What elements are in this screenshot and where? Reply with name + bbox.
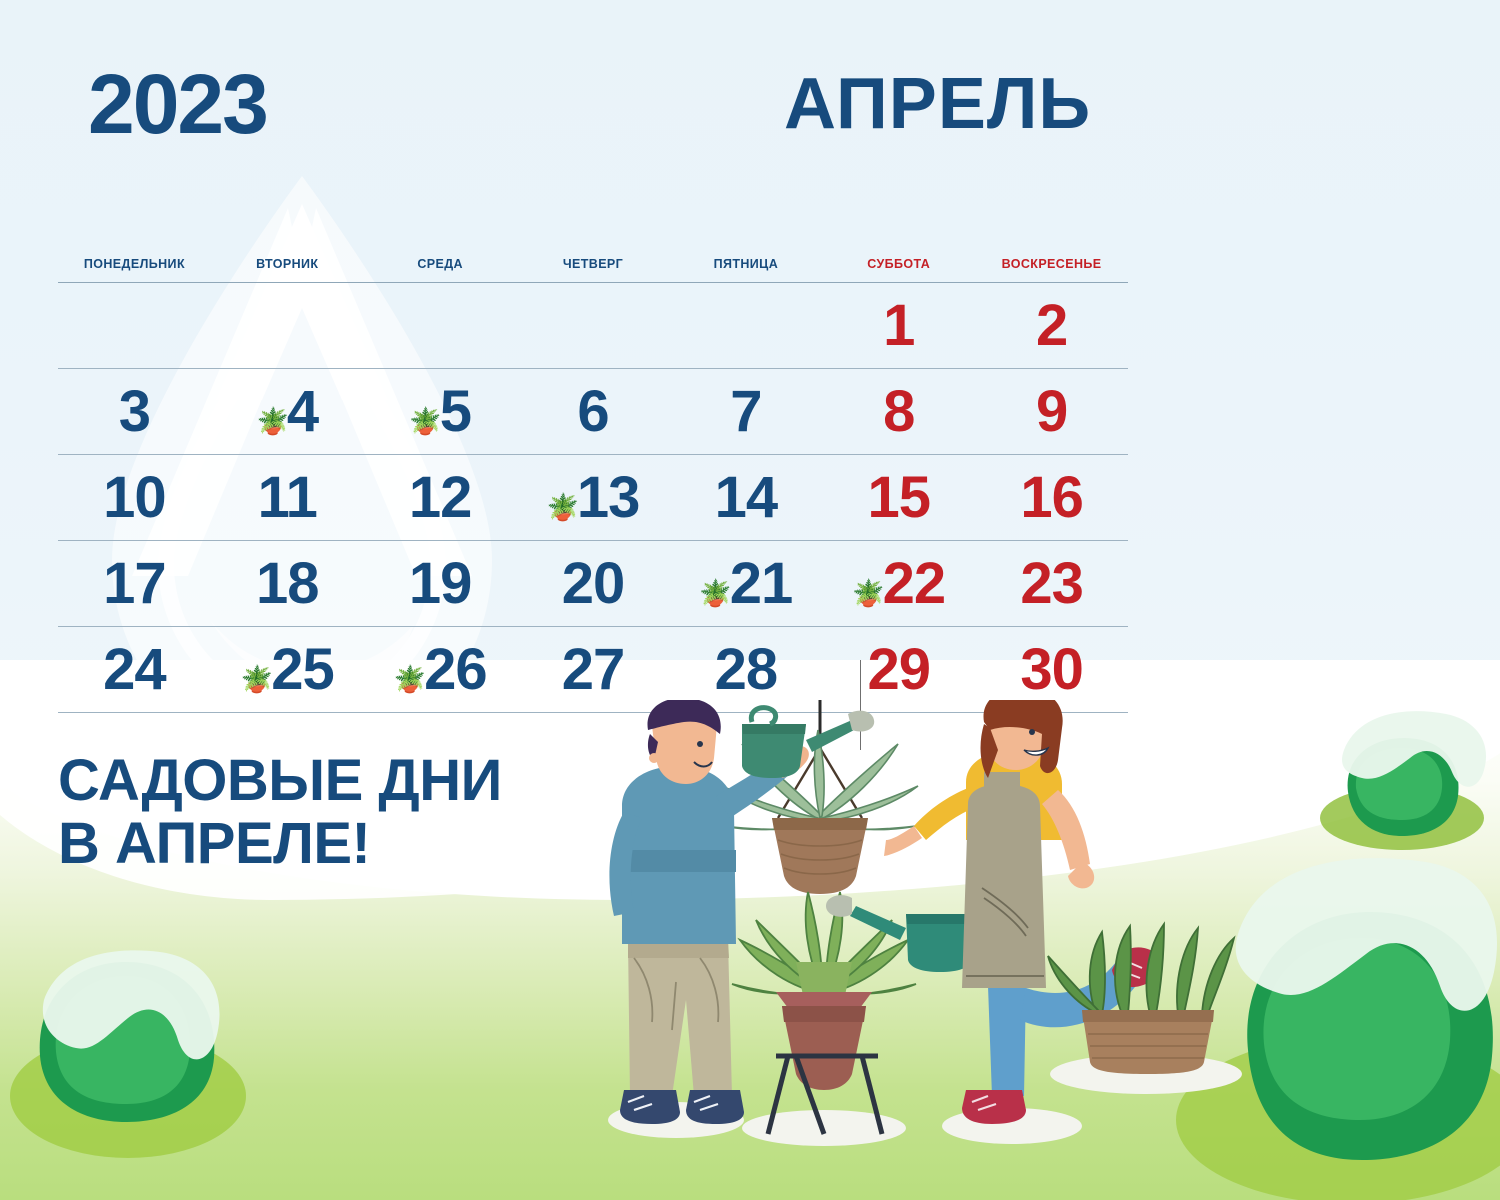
calendar-day-cell-16[interactable]: 16 xyxy=(975,455,1128,540)
day-of-week-3: ЧЕТВЕРГ xyxy=(517,257,670,271)
day-number: 16 xyxy=(1020,469,1083,527)
bush-bottom-left xyxy=(10,950,246,1158)
day-of-week-2: СРЕДА xyxy=(364,257,517,271)
potted-plant-icon: 🪴 xyxy=(699,580,731,606)
bush-right-small xyxy=(1320,711,1486,850)
day-number: 21 xyxy=(730,555,793,613)
day-number: 30 xyxy=(1020,641,1083,699)
day-number: 5 xyxy=(440,383,471,441)
calendar-day-cell-12[interactable]: 12 xyxy=(364,455,517,540)
calendar-day-cell-11[interactable]: 11 xyxy=(211,455,364,540)
potted-plant-icon: 🪴 xyxy=(256,408,288,434)
day-number: 14 xyxy=(715,469,778,527)
day-number: 13 xyxy=(577,469,640,527)
day-of-week-0: ПОНЕДЕЛЬНИК xyxy=(58,257,211,271)
calendar-day-cell-empty xyxy=(669,283,822,368)
day-number: 2 xyxy=(1036,297,1067,355)
day-number: 10 xyxy=(103,469,166,527)
calendar-day-cell-20[interactable]: 20 xyxy=(517,541,670,626)
day-number: 18 xyxy=(256,555,319,613)
day-number: 11 xyxy=(258,469,317,527)
calendar-day-cell-23[interactable]: 23 xyxy=(975,541,1128,626)
day-of-week-4: ПЯТНИЦА xyxy=(669,257,822,271)
calendar-day-cell-19[interactable]: 19 xyxy=(364,541,517,626)
day-number: 1 xyxy=(883,297,914,355)
month-label: АПРЕЛЬ xyxy=(784,68,1091,140)
calendar-day-cell-14[interactable]: 14 xyxy=(669,455,822,540)
calendar-day-cell-17[interactable]: 17 xyxy=(58,541,211,626)
day-of-week-6: ВОСКРЕСЕНЬЕ xyxy=(975,257,1128,271)
day-number: 17 xyxy=(103,555,166,613)
calendar-day-cell-15[interactable]: 15 xyxy=(822,455,975,540)
calendar-day-cell-22[interactable]: 🪴22 xyxy=(822,541,975,626)
day-number: 26 xyxy=(424,641,487,699)
calendar-day-cell-5[interactable]: 🪴5 xyxy=(364,369,517,454)
potted-plant-icon: 🪴 xyxy=(394,666,426,692)
calendar-day-cell-13[interactable]: 🪴13 xyxy=(517,455,670,540)
calendar-day-cell-4[interactable]: 🪴4 xyxy=(211,369,364,454)
day-number: 8 xyxy=(883,383,914,441)
day-number: 25 xyxy=(271,641,334,699)
gardening-illustration xyxy=(0,700,1500,1200)
calendar-day-cell-empty xyxy=(58,283,211,368)
calendar-week-row: 12 xyxy=(58,283,1128,368)
calendar-day-cell-21[interactable]: 🪴21 xyxy=(669,541,822,626)
day-number: 19 xyxy=(409,555,472,613)
calendar-grid: ПОНЕДЕЛЬНИКВТОРНИКСРЕДАЧЕТВЕРГПЯТНИЦАСУБ… xyxy=(58,246,1128,713)
day-number: 7 xyxy=(730,383,761,441)
calendar-day-cell-6[interactable]: 6 xyxy=(517,369,670,454)
potted-plant-icon: 🪴 xyxy=(409,408,441,434)
calendar-day-cell-10[interactable]: 10 xyxy=(58,455,211,540)
day-number: 23 xyxy=(1020,555,1083,613)
calendar-header: 2023 АПРЕЛЬ xyxy=(0,0,1500,200)
day-number: 15 xyxy=(867,469,930,527)
calendar-day-cell-9[interactable]: 9 xyxy=(975,369,1128,454)
day-number: 20 xyxy=(562,555,625,613)
calendar-week-row: 17181920🪴21🪴2223 xyxy=(58,541,1128,626)
calendar-day-cell-3[interactable]: 3 xyxy=(58,369,211,454)
bush-right-large xyxy=(1176,858,1500,1200)
potted-plant-icon: 🪴 xyxy=(852,580,884,606)
calendar-day-cell-empty xyxy=(364,283,517,368)
calendar-day-cell-empty xyxy=(517,283,670,368)
calendar-day-cell-8[interactable]: 8 xyxy=(822,369,975,454)
day-of-week-1: ВТОРНИК xyxy=(211,257,364,271)
day-number: 6 xyxy=(577,383,608,441)
day-of-week-5: СУББОТА xyxy=(822,257,975,271)
day-number: 27 xyxy=(562,641,625,699)
day-number: 12 xyxy=(409,469,472,527)
calendar-week-row: 101112🪴13141516 xyxy=(58,455,1128,540)
calendar-day-cell-empty xyxy=(211,283,364,368)
day-number: 29 xyxy=(867,641,930,699)
calendar-day-cell-7[interactable]: 7 xyxy=(669,369,822,454)
day-number: 9 xyxy=(1036,383,1067,441)
calendar-week-row: 3🪴4🪴56789 xyxy=(58,369,1128,454)
potted-plant-icon: 🪴 xyxy=(547,494,579,520)
day-of-week-header-row: ПОНЕДЕЛЬНИКВТОРНИКСРЕДАЧЕТВЕРГПЯТНИЦАСУБ… xyxy=(58,246,1128,282)
potted-plant-icon: 🪴 xyxy=(241,666,273,692)
day-number: 22 xyxy=(883,555,946,613)
day-number: 3 xyxy=(119,383,150,441)
day-number: 24 xyxy=(103,641,166,699)
day-number: 4 xyxy=(287,383,318,441)
day-number: 28 xyxy=(715,641,778,699)
calendar-day-cell-18[interactable]: 18 xyxy=(211,541,364,626)
calendar-day-cell-1[interactable]: 1 xyxy=(822,283,975,368)
year-label: 2023 xyxy=(88,62,267,146)
calendar-day-cell-2[interactable]: 2 xyxy=(975,283,1128,368)
